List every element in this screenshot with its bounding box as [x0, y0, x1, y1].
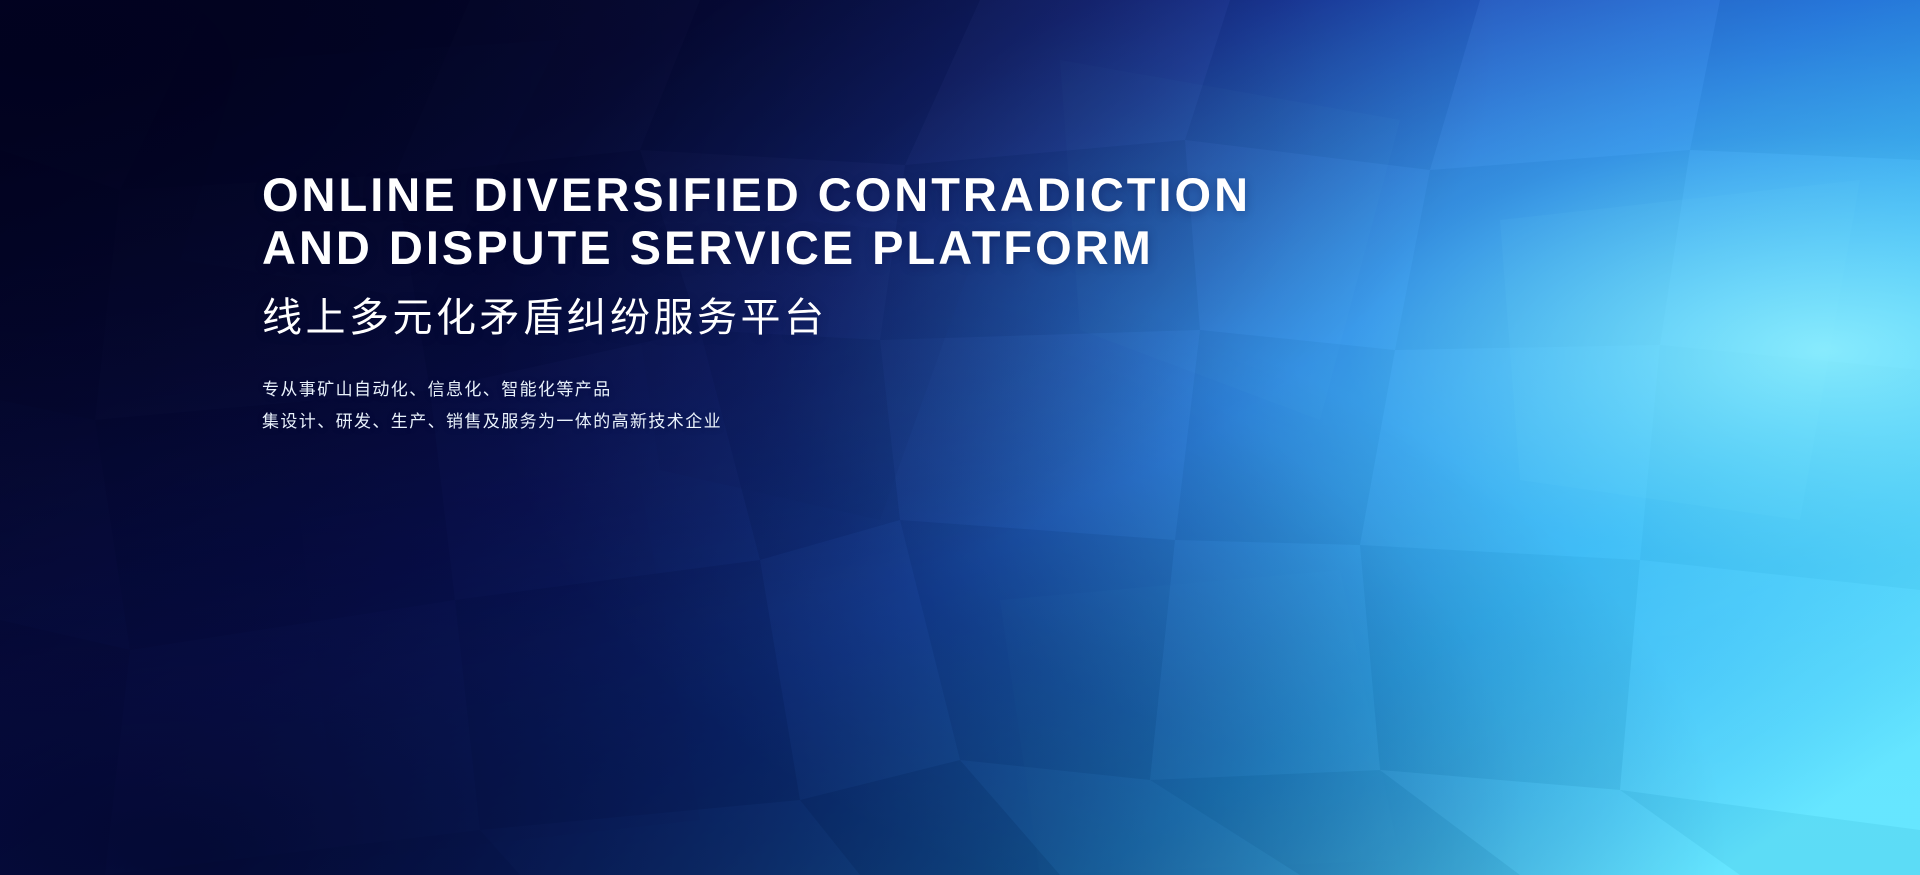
- description-line-2: 集设计、研发、生产、销售及服务为一体的高新技术企业: [262, 406, 1251, 438]
- headline-line-2: AND DISPUTE SERVICE PLATFORM: [262, 221, 1251, 274]
- description-line-1: 专从事矿山自动化、信息化、智能化等产品: [262, 374, 1251, 406]
- hero-banner: ONLINE DIVERSIFIED CONTRADICTION AND DIS…: [0, 0, 1920, 875]
- headline-line-1: ONLINE DIVERSIFIED CONTRADICTION: [262, 168, 1251, 221]
- hero-content: ONLINE DIVERSIFIED CONTRADICTION AND DIS…: [262, 168, 1251, 438]
- subtitle-chinese: 线上多元化矛盾纠纷服务平台: [262, 294, 1251, 342]
- description-block: 专从事矿山自动化、信息化、智能化等产品 集设计、研发、生产、销售及服务为一体的高…: [262, 374, 1251, 438]
